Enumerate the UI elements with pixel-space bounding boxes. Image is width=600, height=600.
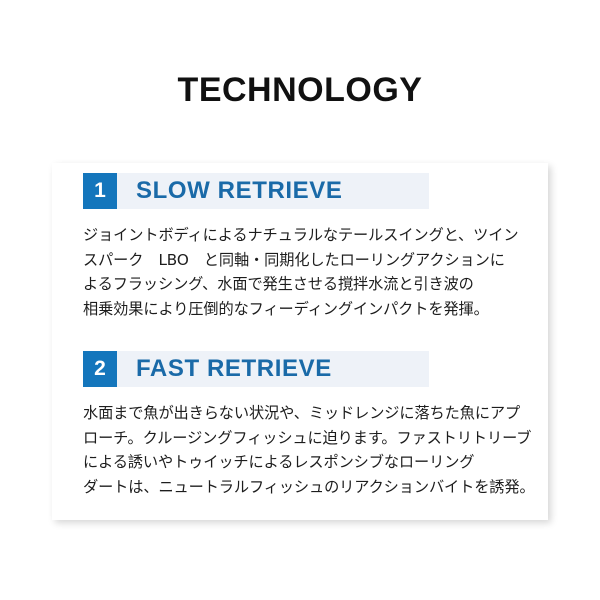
body-line: 水面まで魚が出きらない状況や、ミッドレンジに落ちた魚にアプ [83, 401, 521, 426]
section-header-2: 2 FAST RETRIEVE [83, 351, 429, 387]
body-line: よるフラッシング、水面で発生させる撹拌水流と引き波の [83, 272, 521, 297]
page-title: TECHNOLOGY [0, 70, 600, 110]
body-line: ジョイントボディによるナチュラルなテールスイングと、ツイン [83, 223, 521, 248]
body-line: ダートは、ニュートラルフィッシュのリアクションバイトを誘発。 [83, 475, 521, 500]
section-number-badge-1: 1 [83, 173, 117, 209]
section-body-2: 水面まで魚が出きらない状況や、ミッドレンジに落ちた魚にアプ ローチ。クルージング… [83, 401, 521, 499]
section-header-1: 1 SLOW RETRIEVE [83, 173, 429, 209]
body-line: による誘いやトゥイッチによるレスポンシブなローリング [83, 450, 521, 475]
technology-card: 1 SLOW RETRIEVE ジョイントボディによるナチュラルなテールスイング… [52, 163, 548, 520]
section-title-1: SLOW RETRIEVE [136, 177, 342, 205]
body-line: スパーク LBO と同軸・同期化したローリングアクションに [83, 248, 521, 273]
body-line: 相乗効果により圧倒的なフィーディングインパクトを発揮。 [83, 297, 521, 322]
section-fast-retrieve: 2 FAST RETRIEVE 水面まで魚が出きらない状況や、ミッドレンジに落ち… [52, 351, 548, 499]
body-line: ローチ。クルージングフィッシュに迫ります。ファストリトリーブ [83, 426, 521, 451]
technology-page: TECHNOLOGY 1 SLOW RETRIEVE ジョイントボディによるナチ… [0, 0, 600, 600]
section-number-badge-2: 2 [83, 351, 117, 387]
section-title-2: FAST RETRIEVE [136, 355, 332, 383]
section-slow-retrieve: 1 SLOW RETRIEVE ジョイントボディによるナチュラルなテールスイング… [52, 173, 548, 321]
section-body-1: ジョイントボディによるナチュラルなテールスイングと、ツイン スパーク LBO と… [83, 223, 521, 321]
